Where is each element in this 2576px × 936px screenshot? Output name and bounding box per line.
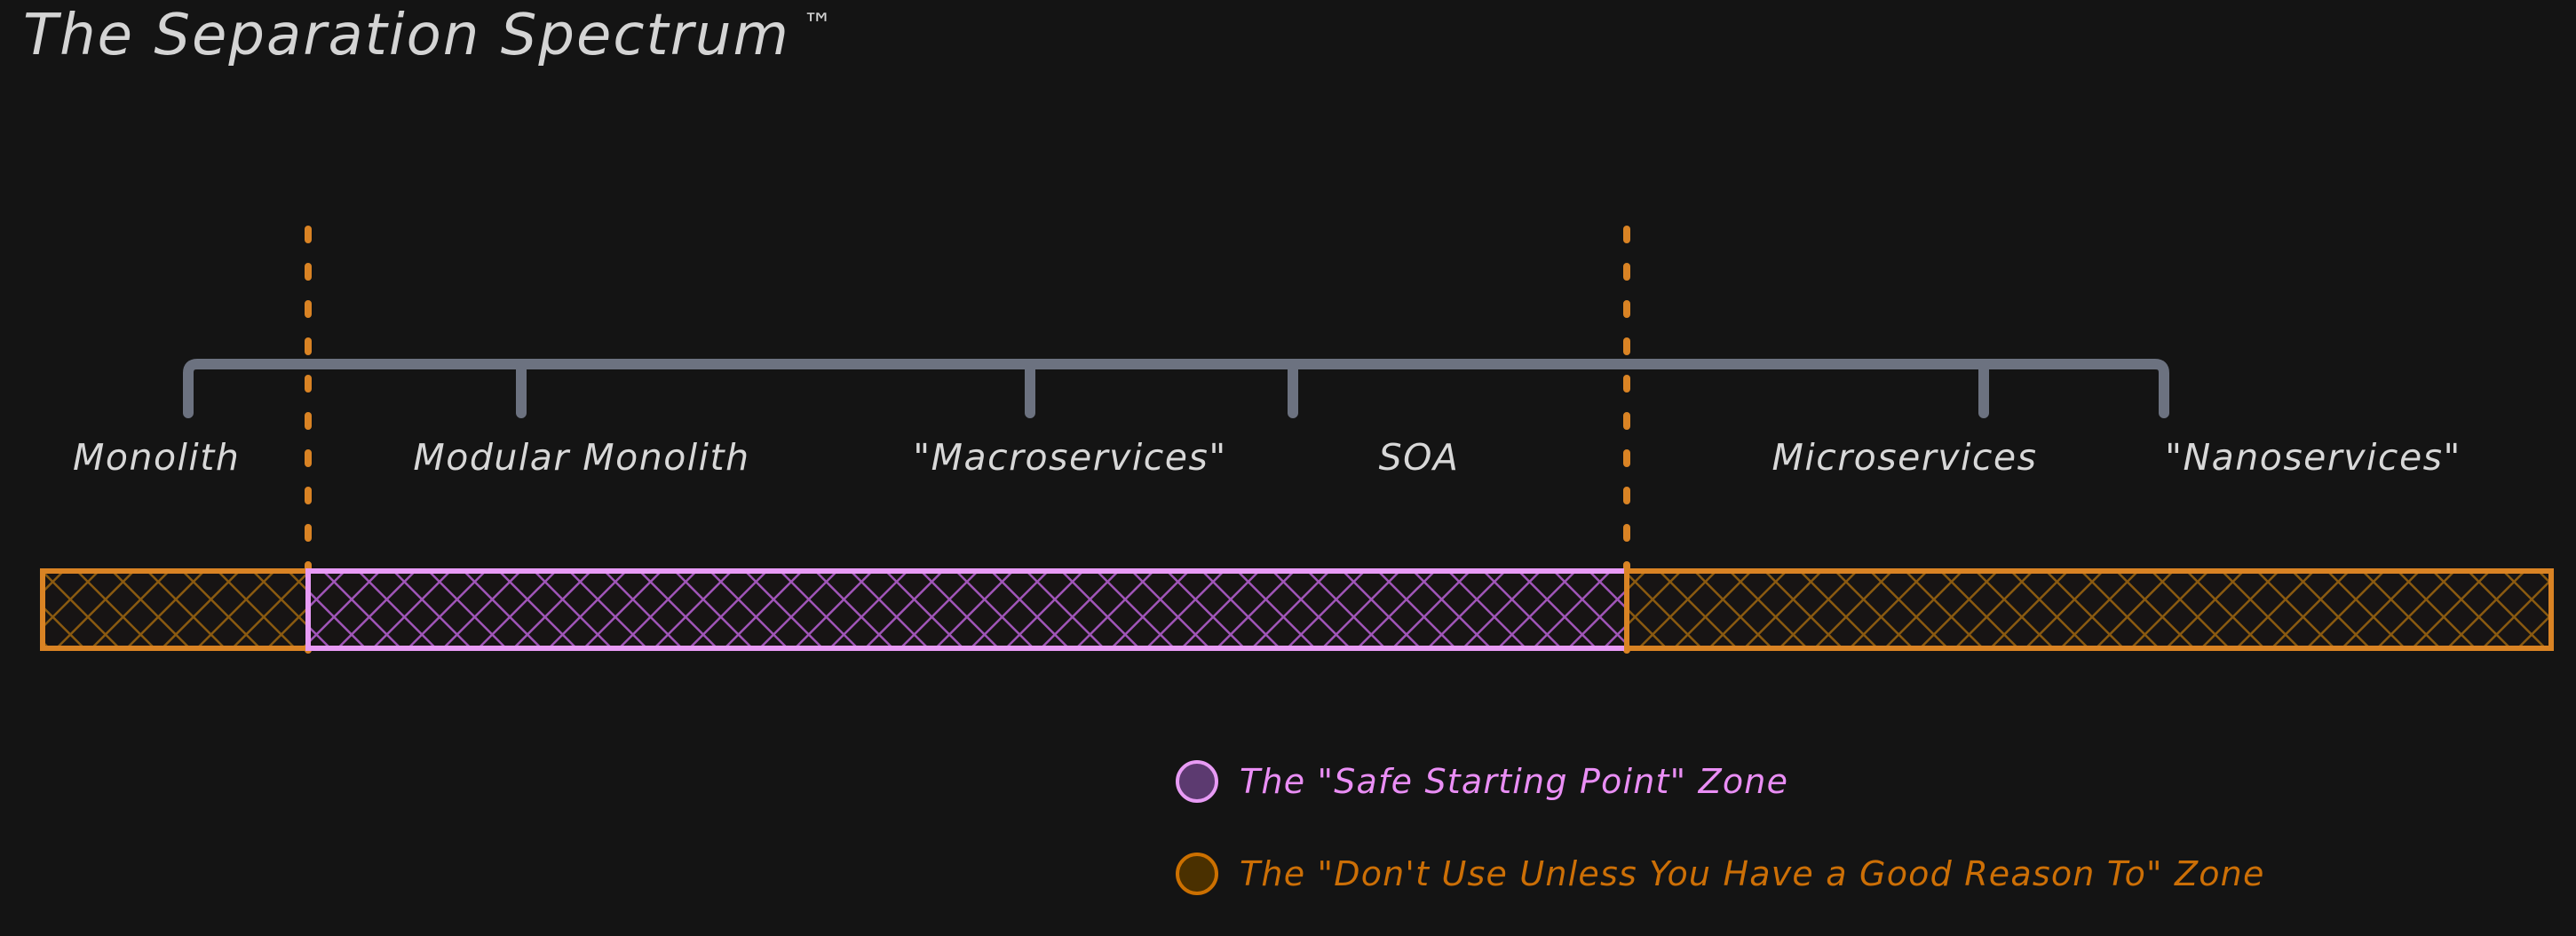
legend-label-danger-zone: The "Don't Use Unless You Have a Good Re… bbox=[1240, 857, 2265, 891]
legend-swatch-safe-zone bbox=[1176, 760, 1218, 803]
zone-bars bbox=[43, 571, 2551, 648]
legend-label-safe-zone: The "Safe Starting Point" Zone bbox=[1240, 765, 1788, 798]
spectrum-label-monolith: Monolith bbox=[73, 440, 240, 476]
legend-swatch-danger-zone bbox=[1176, 853, 1218, 895]
legend-item-danger-zone: The "Don't Use Unless You Have a Good Re… bbox=[1176, 844, 2265, 904]
spectrum-label-modular-monolith: Modular Monolith bbox=[413, 440, 749, 476]
diagram-canvas: The Separation Spectrum™ bbox=[0, 0, 2576, 932]
spectrum-bracket bbox=[188, 364, 2164, 413]
zone-bar-danger-left bbox=[43, 571, 308, 648]
spectrum-label-soa: SOA bbox=[1379, 440, 1460, 476]
spectrum-label-nanoservices: "Nanoservices" bbox=[2165, 440, 2461, 476]
zone-bar-safe bbox=[308, 571, 1627, 648]
spectrum-label-macroservices: "Macroservices" bbox=[913, 440, 1226, 476]
spectrum-label-microservices: Microservices bbox=[1772, 440, 2038, 476]
legend-item-safe-zone: The "Safe Starting Point" Zone bbox=[1176, 751, 2265, 812]
zone-bar-danger-right bbox=[1627, 571, 2551, 648]
legend: The "Safe Starting Point" Zone The "Don'… bbox=[1176, 751, 2265, 936]
